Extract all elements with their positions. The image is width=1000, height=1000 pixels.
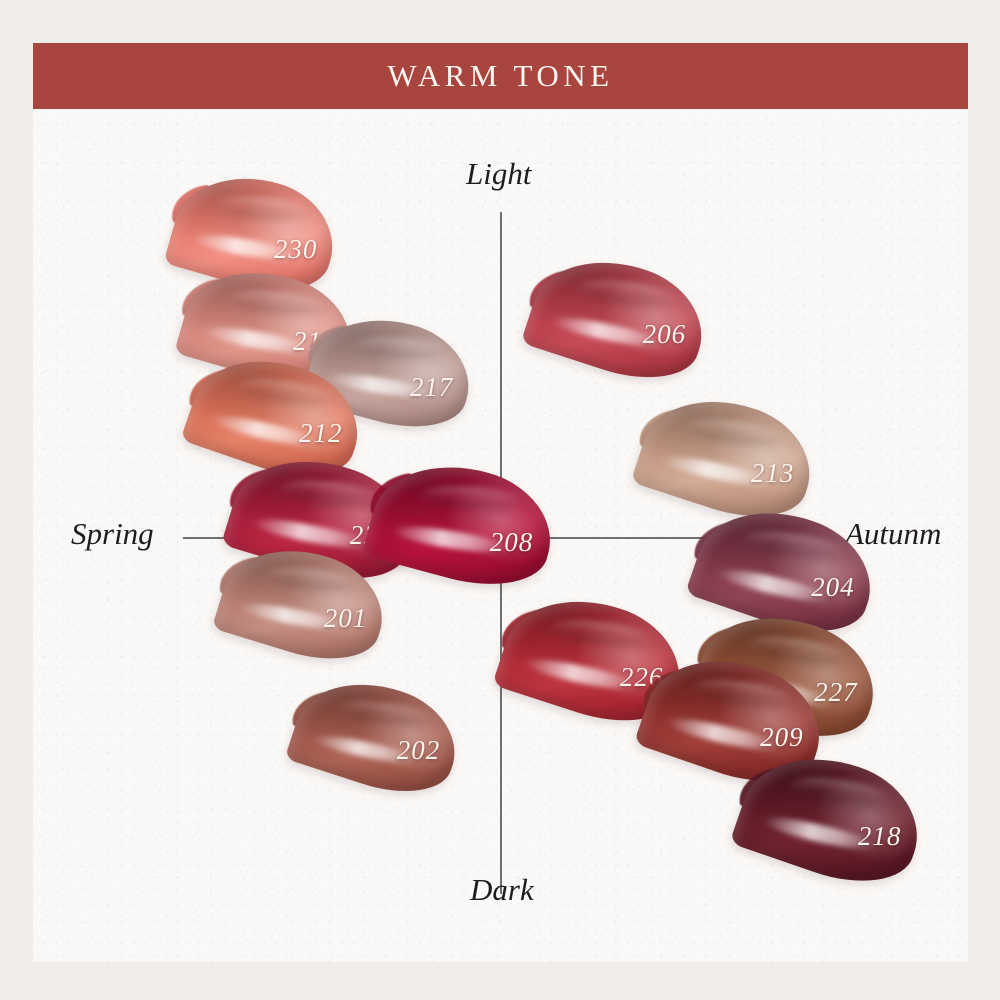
- axis-label-light: Light: [466, 156, 531, 192]
- lip-swatch-202[interactable]: 202: [296, 686, 458, 786]
- lip-swatch-204[interactable]: 204: [698, 515, 874, 625]
- shade-chart-page: WARM TONE Light Dark Spring Autunm 23021…: [0, 0, 1000, 1000]
- swatch-body: [362, 447, 565, 602]
- header-bar: WARM TONE: [33, 43, 968, 109]
- lip-swatch-208[interactable]: 208: [373, 468, 553, 580]
- lip-swatch-230[interactable]: 230: [175, 179, 335, 287]
- swatch-body: [212, 531, 397, 676]
- swatch-body: [521, 240, 718, 396]
- lip-swatch-218[interactable]: 218: [743, 761, 921, 875]
- swatch-body: [285, 663, 470, 808]
- axis-label-dark: Dark: [470, 872, 534, 908]
- lip-swatch-201[interactable]: 201: [223, 552, 385, 654]
- lip-swatch-206[interactable]: 206: [533, 264, 705, 372]
- lip-swatch-212[interactable]: 212: [193, 363, 361, 470]
- axis-label-spring: Spring: [71, 516, 154, 552]
- page-title: WARM TONE: [387, 58, 613, 94]
- chart-canvas: WARM TONE Light Dark Spring Autunm 23021…: [33, 43, 968, 962]
- lip-swatch-209[interactable]: 209: [647, 663, 823, 775]
- lip-swatch-213[interactable]: 213: [643, 403, 813, 511]
- swatch-body: [630, 379, 825, 534]
